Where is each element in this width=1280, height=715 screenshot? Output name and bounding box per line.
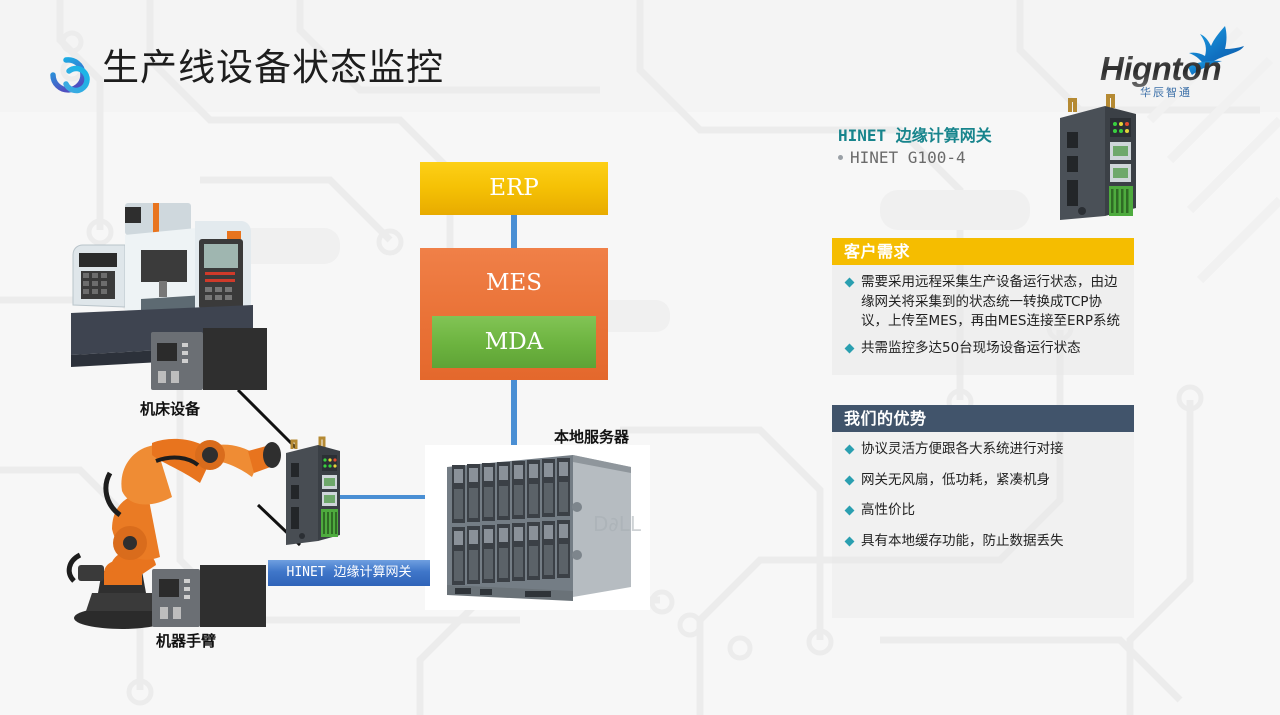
- right-column: HINET 边缘计算网关 HINET G100-4: [832, 100, 1138, 220]
- list-item: 需要采用远程采集生产设备运行状态，由边缘网关将采集到的状态统一转换成TCP协议，…: [838, 273, 1126, 332]
- product-title: HINET 边缘计算网关: [838, 122, 992, 146]
- diamond-bullet-icon: [845, 343, 855, 353]
- blade-server-icon: D∂LL: [425, 445, 650, 610]
- two-circles-logo-icon: [36, 40, 94, 98]
- gateway-chip-label[interactable]: HINET 边缘计算网关: [268, 560, 430, 586]
- cnc-machine-icon: [55, 195, 270, 395]
- panel-customer-needs-body: 需要采用远程采集生产设备运行状态，由边缘网关将采集到的状态统一转换成TCP协议，…: [832, 265, 1134, 375]
- panel-our-advantages: 我们的优势 协议灵活方便跟各大系统进行对接 网关无风扇，低功耗，紧凑机身 高性价…: [832, 405, 1134, 618]
- diamond-bullet-icon: [845, 445, 855, 455]
- list-item-text: 具有本地缓存功能，防止数据丢失: [861, 532, 1064, 552]
- list-item: 高性价比: [838, 501, 1126, 521]
- edge-gateway-photo-icon: [1050, 92, 1146, 222]
- brand-logo: Hignton 华辰智通: [1100, 26, 1240, 98]
- label-local-server: 本地服务器: [554, 426, 629, 447]
- diamond-bullet-icon: [845, 536, 855, 546]
- list-item-text: 高性价比: [861, 501, 915, 521]
- panel-customer-needs: 客户需求 需要采用远程采集生产设备运行状态，由边缘网关将采集到的状态统一转换成T…: [832, 238, 1134, 375]
- bullet-dot-icon: [838, 155, 843, 160]
- edge-gateway-device-icon: [278, 435, 348, 547]
- list-item-text: 共需监控多达50台现场设备运行状态: [861, 339, 1081, 359]
- svg-text:D∂LL: D∂LL: [593, 512, 642, 536]
- list-item-text: 网关无风扇，低功耗，紧凑机身: [861, 471, 1050, 491]
- product-header: HINET 边缘计算网关 HINET G100-4: [832, 100, 1138, 220]
- brand-chinese-name: 华辰智通: [1140, 84, 1192, 100]
- list-item: 网关无风扇，低功耗，紧凑机身: [838, 471, 1126, 491]
- page-title: 生产线设备状态监控: [102, 42, 444, 94]
- diamond-bullet-icon: [845, 475, 855, 485]
- list-item: 具有本地缓存功能，防止数据丢失: [838, 532, 1126, 552]
- label-machine-equipment: 机床设备: [140, 398, 200, 419]
- list-item-text: 协议灵活方便跟各大系统进行对接: [861, 440, 1064, 460]
- list-item: 协议灵活方便跟各大系统进行对接: [838, 440, 1126, 460]
- diamond-bullet-icon: [845, 278, 855, 288]
- label-robot-arm: 机器手臂: [156, 630, 216, 651]
- product-model: HINET G100-4: [850, 148, 966, 167]
- panel-our-advantages-heading: 我们的优势: [832, 405, 1134, 432]
- panel-our-advantages-body: 协议灵活方便跟各大系统进行对接 网关无风扇，低功耗，紧凑机身 高性价比 具有本地…: [832, 432, 1134, 618]
- brand-wordmark: Hignton: [1100, 50, 1221, 88]
- panel-customer-needs-heading: 客户需求: [832, 238, 1134, 265]
- product-model-row: HINET G100-4: [838, 148, 966, 167]
- list-item: 共需监控多达50台现场设备运行状态: [838, 339, 1126, 359]
- robot-arm-icon: [60, 425, 290, 630]
- diamond-bullet-icon: [845, 506, 855, 516]
- list-item-text: 需要采用远程采集生产设备运行状态，由边缘网关将采集到的状态统一转换成TCP协议，…: [861, 273, 1126, 332]
